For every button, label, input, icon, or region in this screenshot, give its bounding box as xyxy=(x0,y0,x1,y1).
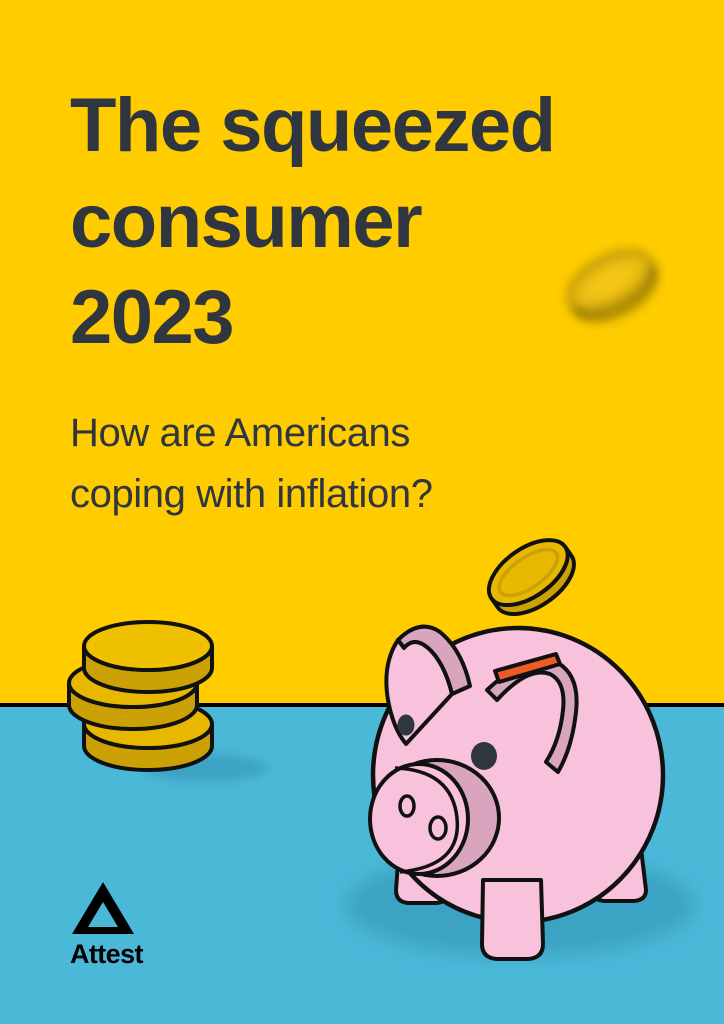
report-cover: The squeezed consumer 2023 How are Ameri… xyxy=(0,0,724,1024)
piggy-snout-face xyxy=(370,764,468,874)
triangle-delta-icon xyxy=(70,880,136,936)
piggy-leg-front xyxy=(482,880,543,959)
piggy-eye-near xyxy=(471,742,497,770)
falling-coin-icon xyxy=(478,527,586,627)
page-title: The squeezed consumer 2023 xyxy=(70,78,590,366)
page-subtitle: How are Americans coping with inflation? xyxy=(70,366,590,525)
piggy-eye-far xyxy=(398,715,415,736)
brand-logo: Attest xyxy=(70,880,143,969)
brand-name: Attest xyxy=(70,939,143,969)
piggy-bank-icon xyxy=(370,627,663,959)
piggy-nostril-right xyxy=(430,817,446,839)
piggy-nostril-left xyxy=(400,796,414,816)
cover-text-block: The squeezed consumer 2023 How are Ameri… xyxy=(70,78,590,525)
